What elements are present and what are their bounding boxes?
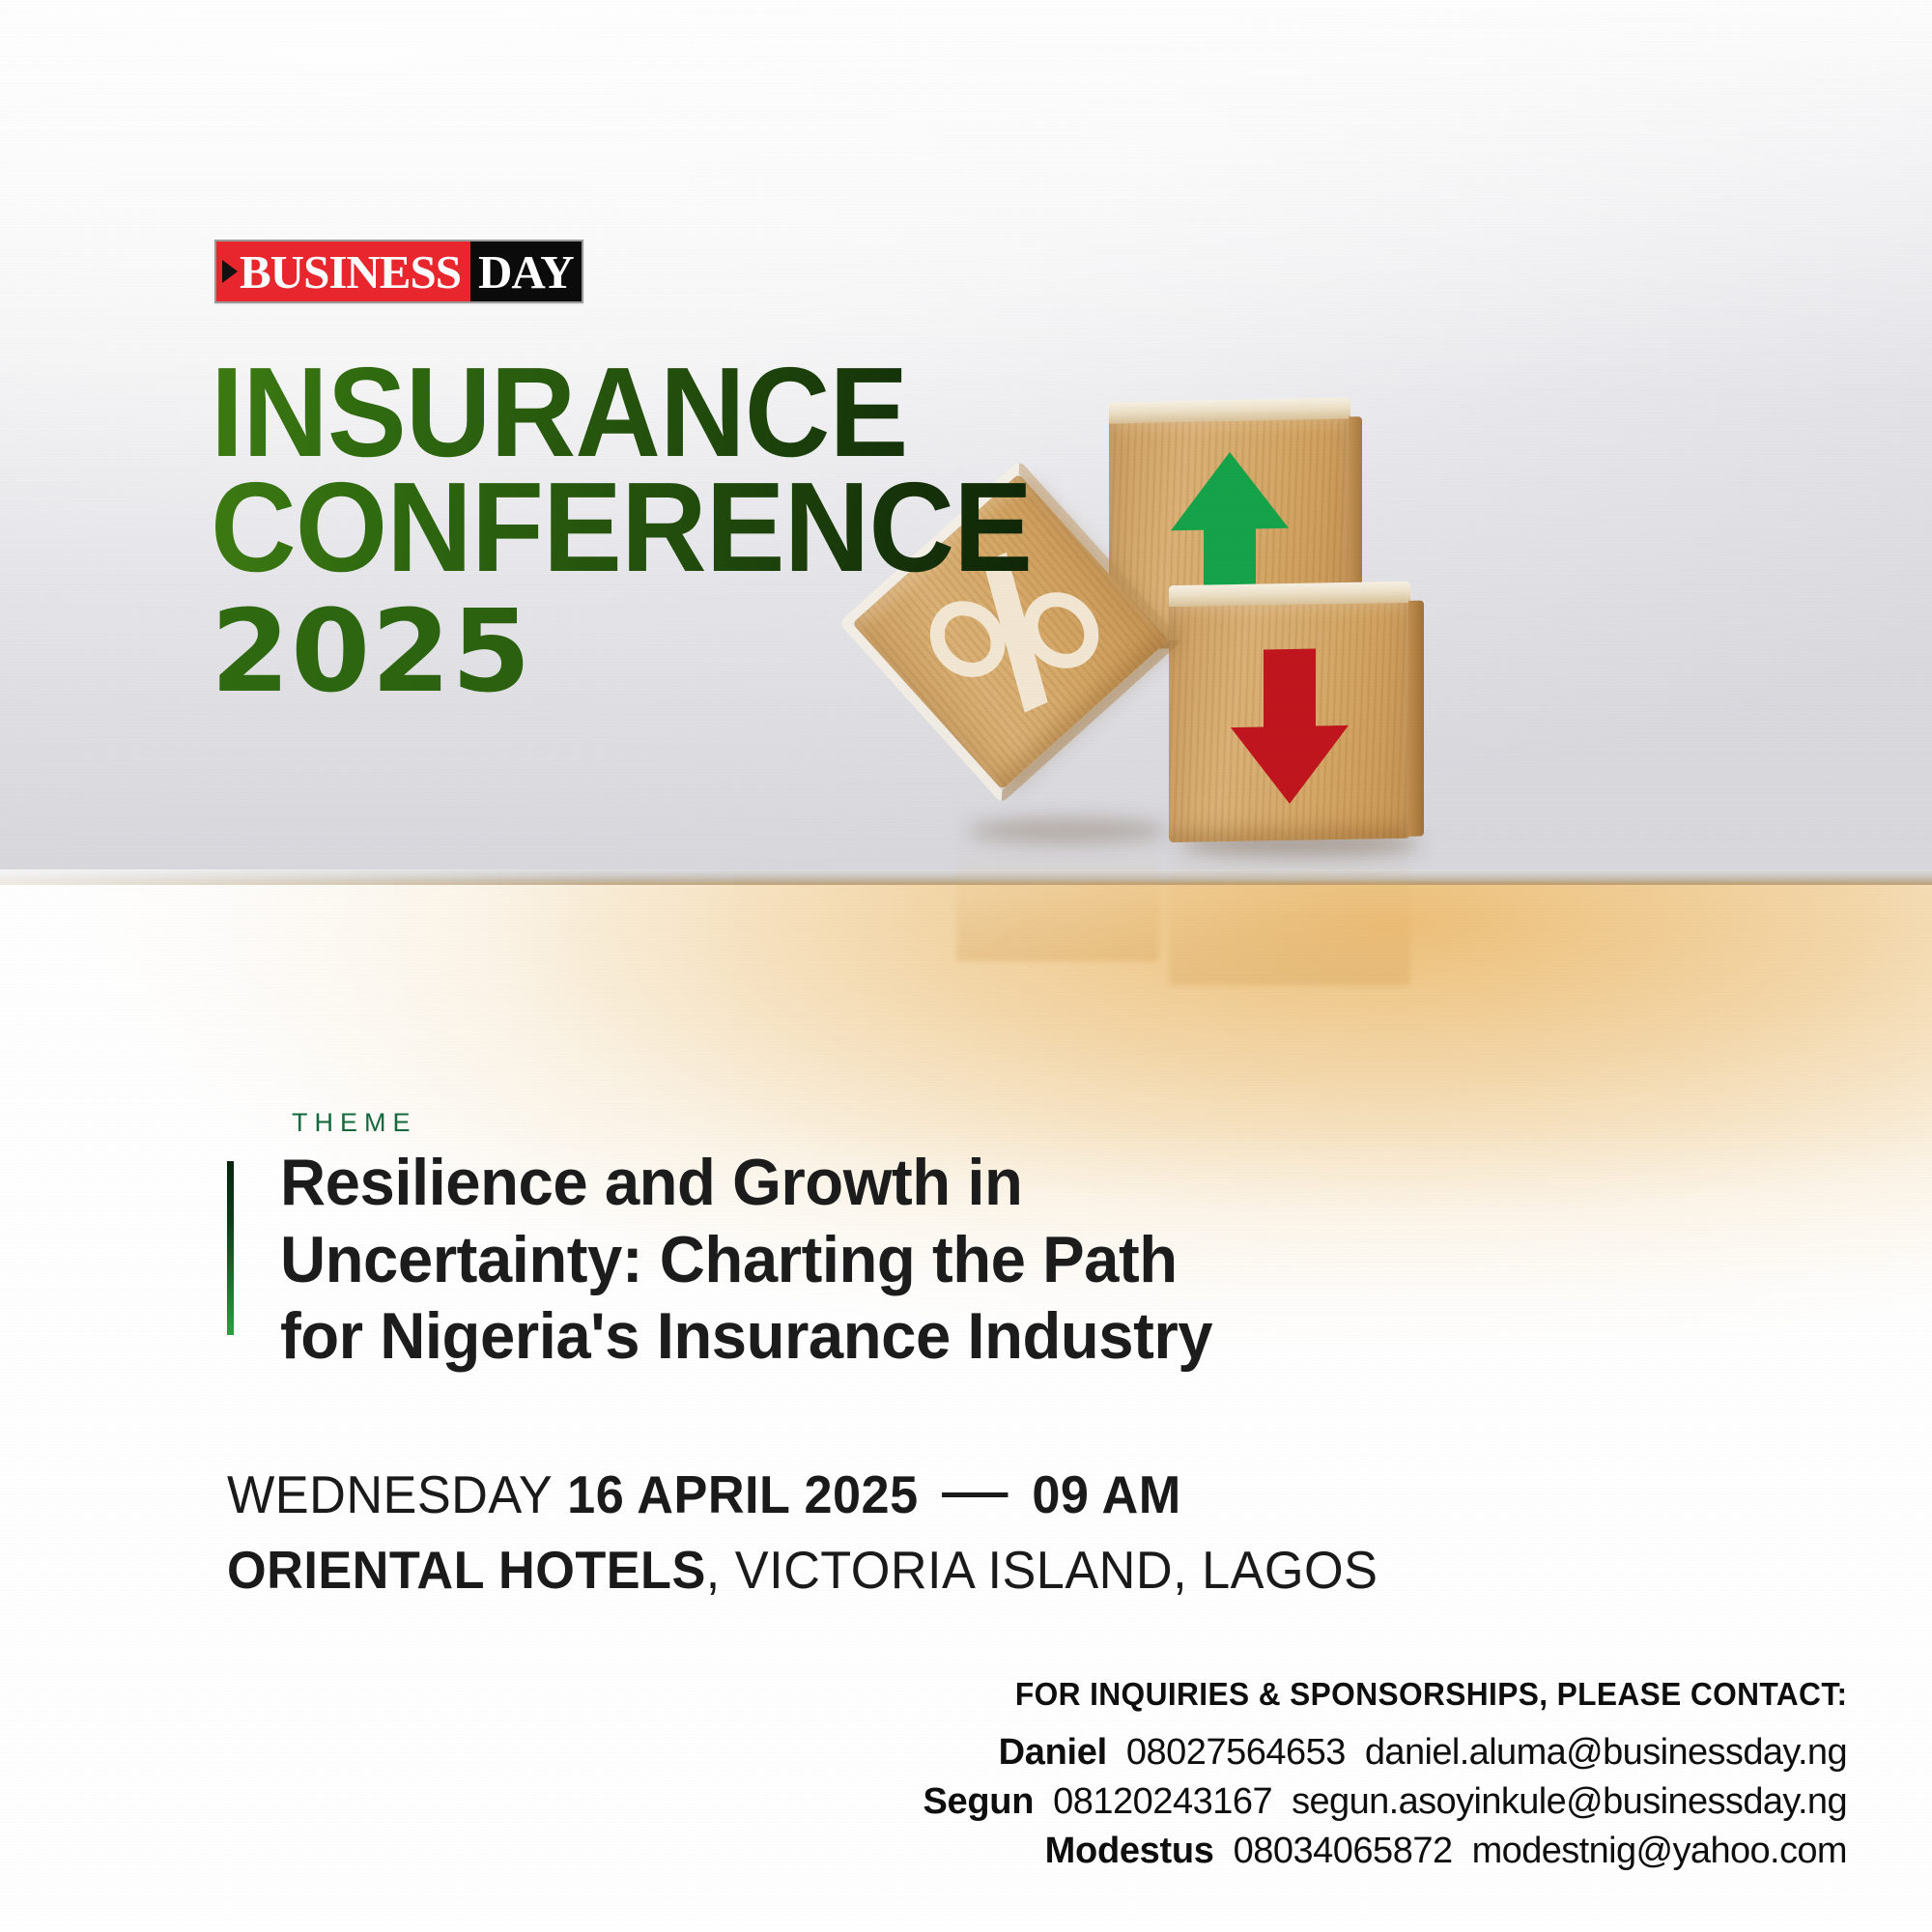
- theme-statement: Resilience and Growth in Uncertainty: Ch…: [280, 1145, 1449, 1376]
- theme-line-1: Resilience and Growth in: [280, 1145, 1449, 1222]
- event-day: WEDNESDAY: [227, 1457, 553, 1532]
- event-venue: ORIENTAL HOTELS: [227, 1532, 706, 1607]
- contact-phone[interactable]: 08027564653: [1126, 1728, 1346, 1777]
- contact-phone[interactable]: 08034065872: [1234, 1827, 1453, 1876]
- event-venue-line: ORIENTAL HOTELS , VICTORIA ISLAND, LAGOS: [227, 1532, 1378, 1607]
- contact-block: FOR INQUIRIES & SPONSORSHIPS, PLEASE CON…: [923, 1676, 1847, 1876]
- event-time: 09 AM: [1032, 1457, 1180, 1532]
- businessday-logo[interactable]: BUSINESS DAY: [214, 240, 583, 303]
- event-date: 16 APRIL 2025: [567, 1457, 918, 1532]
- em-dash-rule: [942, 1492, 1008, 1497]
- theme-accent-bar: [227, 1161, 234, 1335]
- title-year: 2025: [211, 593, 1370, 709]
- logo-word-business: BUSINESS: [240, 248, 461, 296]
- logo-black-panel: DAY: [470, 241, 582, 301]
- contact-email[interactable]: segun.asoyinkule@businessday.ng: [1292, 1777, 1847, 1827]
- theme-label: THEME: [292, 1108, 417, 1138]
- theme-line-2: Uncertainty: Charting the Path: [280, 1222, 1449, 1299]
- poster-canvas: BUSINESS DAY INSURANCE CONFERENCE 2025 T…: [0, 0, 1932, 1932]
- contact-email[interactable]: daniel.aluma@businessday.ng: [1365, 1728, 1847, 1777]
- contact-row: Segun 08120243167 segun.asoyinkule@busin…: [923, 1777, 1847, 1827]
- contact-row: Daniel 08027564653 daniel.aluma@business…: [923, 1728, 1847, 1777]
- block-right-edge: [1408, 601, 1424, 837]
- title-line-conference: CONFERENCE: [211, 470, 1289, 585]
- triangle-right-icon: [222, 260, 238, 283]
- theme-line-3: for Nigeria's Insurance Industry: [280, 1298, 1449, 1376]
- percent-block-shadow: [966, 819, 1169, 842]
- event-datetime-line: WEDNESDAY 16 APRIL 2025 09 AM: [227, 1457, 1378, 1532]
- contact-email[interactable]: modestnig@yahoo.com: [1472, 1827, 1847, 1876]
- contact-row: Modestus 08034065872 modestnig@yahoo.com: [923, 1827, 1847, 1876]
- contact-name: Segun: [923, 1777, 1035, 1827]
- logo-red-panel: BUSINESS: [216, 241, 470, 301]
- contact-name: Modestus: [1045, 1827, 1214, 1876]
- event-venue-rest: , VICTORIA ISLAND, LAGOS: [706, 1532, 1378, 1607]
- contact-heading: FOR INQUIRIES & SPONSORSHIPS, PLEASE CON…: [960, 1676, 1847, 1713]
- page-title: INSURANCE CONFERENCE 2025: [211, 355, 1370, 709]
- contact-name: Daniel: [999, 1728, 1107, 1777]
- logo-word-day: DAY: [478, 248, 574, 296]
- title-line-insurance: INSURANCE: [211, 355, 1289, 470]
- contact-phone[interactable]: 08120243167: [1053, 1777, 1272, 1827]
- event-details: WEDNESDAY 16 APRIL 2025 09 AM ORIENTAL H…: [227, 1457, 1378, 1607]
